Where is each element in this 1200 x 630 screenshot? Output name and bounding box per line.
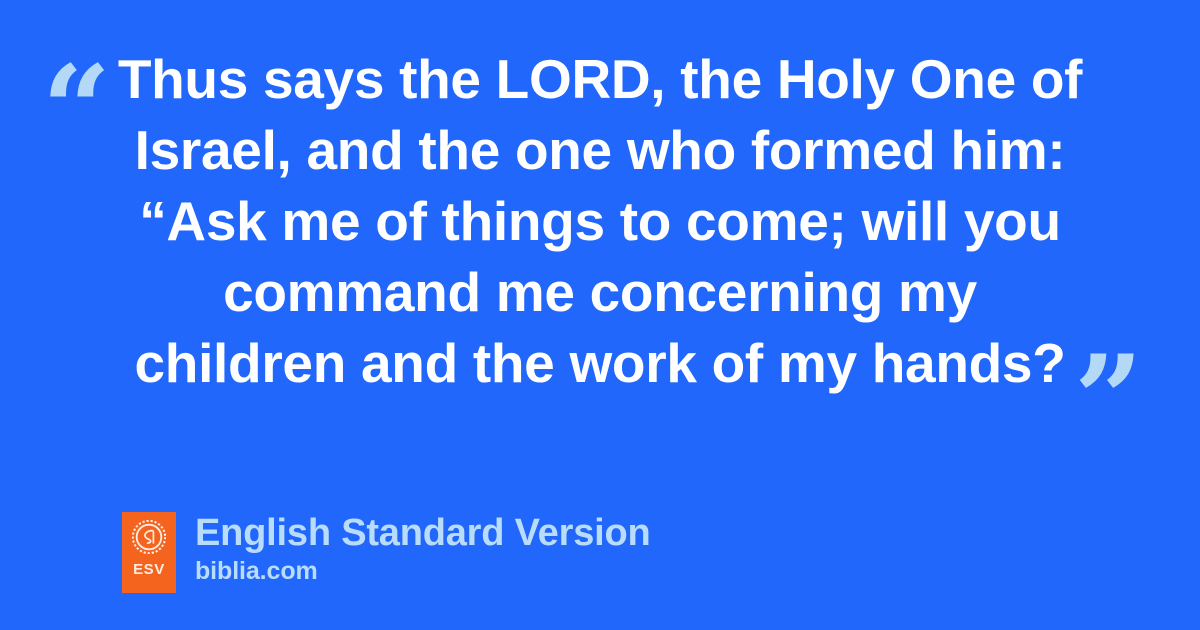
attribution-footer: ESV English Standard Version biblia.com [122,512,651,593]
esv-seal-icon [132,520,166,554]
close-quote-icon: ” [1074,340,1143,460]
bible-version-name: English Standard Version [195,512,651,554]
quote-line: Thus says the LORD, the Holy One of [96,44,1104,115]
esv-logo-badge: ESV [122,512,176,593]
quote-line: “Ask me of things to come; will you [96,186,1104,257]
esv-logo-abbreviation: ESV [133,562,165,577]
quote-text: Thus says the LORD, the Holy One of Isra… [96,44,1104,399]
footer-text-group: English Standard Version biblia.com [195,512,651,585]
site-url: biblia.com [195,557,651,585]
quote-line: command me concerning my [96,257,1104,328]
quote-line: children and the work of my hands? [96,328,1104,399]
quote-line: Israel, and the one who formed him: [96,115,1104,186]
verse-card: “ Thus says the LORD, the Holy One of Is… [0,0,1200,630]
quote-block: “ Thus says the LORD, the Holy One of Is… [0,44,1200,414]
